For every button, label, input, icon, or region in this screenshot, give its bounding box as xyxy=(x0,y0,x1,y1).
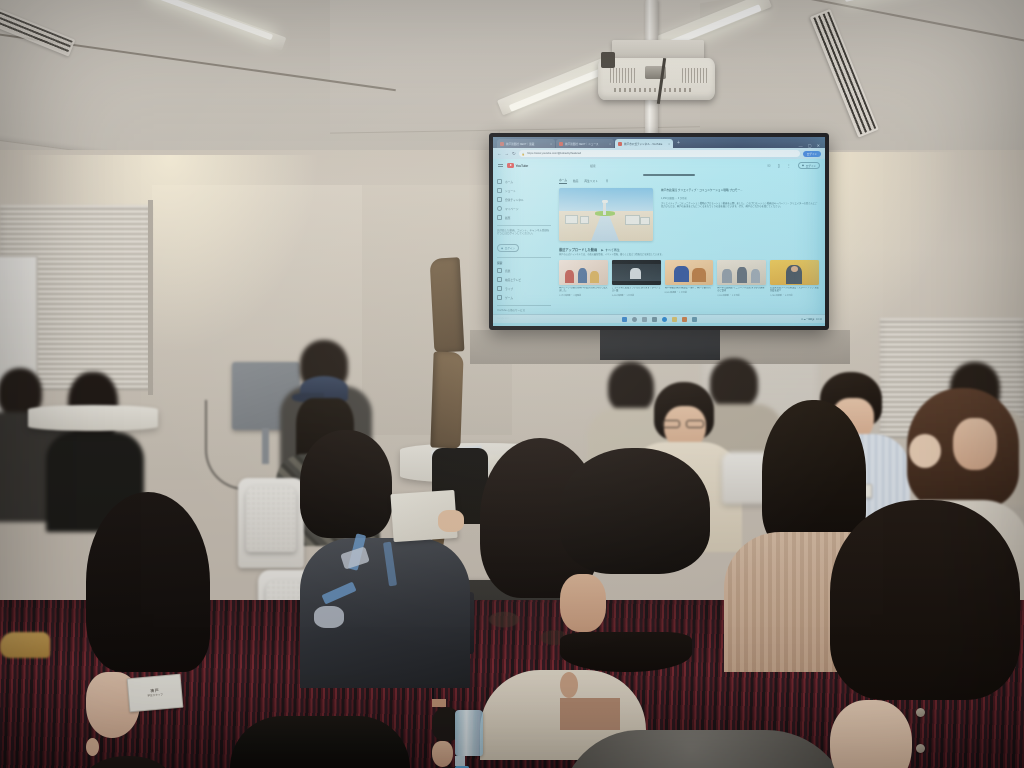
video-card[interactable]: 神戸市立図書館 リニューアル記念 まち歩き講座のご案内 2,110 回視聴 ・ … xyxy=(717,260,766,297)
ear xyxy=(86,738,99,756)
video-title: 神戸市立図書館 リニューアル記念 まち歩き講座のご案内 xyxy=(717,287,766,293)
edge-icon[interactable] xyxy=(662,317,667,322)
forward-icon[interactable]: → xyxy=(505,151,510,156)
tab-close-icon[interactable]: × xyxy=(609,142,611,146)
signin-button[interactable]: ◉ ログイン xyxy=(798,162,820,169)
hair-fringe xyxy=(560,632,692,672)
history-icon xyxy=(497,215,502,220)
head xyxy=(710,358,758,408)
favicon-icon xyxy=(500,142,504,146)
subscriptions-icon xyxy=(497,197,502,202)
play-icon: ▶ xyxy=(601,248,603,252)
back-icon[interactable]: ← xyxy=(497,151,502,156)
system-tray[interactable]: A ☁ ^ ⌨ 🔊 10:42 xyxy=(801,318,822,321)
projector-adjust-knob xyxy=(601,52,615,68)
neck xyxy=(560,698,620,730)
video-meta: 3,420 回視聴 ・ 1 か月前 xyxy=(612,294,661,297)
start-icon[interactable] xyxy=(622,317,627,322)
youtube-page: YouTube 検索 ☉ ▯ ⋮ ◉ ログイン xyxy=(493,159,825,323)
tab-title: 神戸新聞社 NEXT｜連載 xyxy=(506,142,534,146)
ear xyxy=(560,672,578,698)
video-card[interactable]: 神戸ビーフ の魅力を神戸市長が世界に向けて伝えました。 1.2万 回視聴 ・ 2… xyxy=(559,260,608,297)
tab-close-icon[interactable]: × xyxy=(668,142,670,146)
sidebar-divider xyxy=(497,225,551,226)
tab-title: 神戸新聞社 NEXT｜ニュース xyxy=(565,142,598,146)
hair xyxy=(830,500,1020,700)
head xyxy=(608,362,654,412)
attendee-bottom-edge xyxy=(230,716,410,768)
profile-button[interactable]: ログイン xyxy=(803,151,821,157)
video-meta: 1.2万 回視聴 ・ 2 週間前 xyxy=(559,294,608,297)
explorer-icon[interactable] xyxy=(652,317,657,322)
tab-title: 神戸市公式チャンネル - YouTube xyxy=(624,142,662,146)
face xyxy=(432,741,453,767)
hamburger-menu-icon[interactable] xyxy=(498,164,503,168)
folder-icon[interactable] xyxy=(672,317,677,322)
sidebar-item-home[interactable]: ホーム xyxy=(497,177,551,186)
window-frame-left xyxy=(148,200,153,395)
search-icon[interactable]: ⚲ xyxy=(606,179,608,183)
thumbnail-tower xyxy=(603,202,606,215)
hand xyxy=(438,510,464,532)
video-meta: 8,905 回視聴 ・ 1 か月前 xyxy=(665,291,714,294)
photo-scene: 神戸新聞社 NEXT｜連載 × 神戸新聞社 NEXT｜ニュース × 神戸市公式チ… xyxy=(0,0,1024,768)
sidebar-item-label: マイページ xyxy=(505,207,518,211)
sidebar-item-shorts[interactable]: ショート xyxy=(497,186,551,195)
round-table-left xyxy=(28,405,158,431)
featured-video-thumbnail[interactable] xyxy=(559,188,653,241)
youtube-logo[interactable]: YouTube xyxy=(507,163,528,168)
account-icon: ◉ xyxy=(802,164,804,167)
channel-tabs: ホーム 動画 再生リスト ⚲ xyxy=(559,177,819,185)
featured-video-description: クリエイティブ・コミュニケーション戦略のプロモーション動画を公開しました。 この… xyxy=(661,203,819,210)
browser-tab[interactable]: 神戸新聞社 NEXT｜ニュース × xyxy=(556,139,614,148)
video-thumbnail[interactable] xyxy=(559,260,608,285)
home-icon xyxy=(497,179,502,184)
video-title: 起業家応援チームの座談会｜スタートアップ 支援制度を紹介 xyxy=(770,287,819,293)
microphone-icon[interactable]: ▯ xyxy=(778,163,780,168)
tab-home[interactable]: ホーム xyxy=(559,178,567,184)
browser-address-bar: ← → ↻ 🔒 https://www.youtube.com/@kobecit… xyxy=(493,148,825,159)
play-all-button[interactable]: ▶ すべて再生 xyxy=(601,248,619,252)
video-title: こうべ子育て応援プラザ はじまります！ダイジェスト版 xyxy=(612,287,661,293)
play-all-label: すべて再生 xyxy=(605,248,620,252)
mail-icon[interactable] xyxy=(682,317,687,322)
glasses-icon xyxy=(662,420,680,428)
sidebar-item-label: ショート xyxy=(505,189,516,193)
projector-vent-right xyxy=(682,68,708,83)
sidebar-signin-note: 高評価した動画、コメント、チャンネル登録を行うにはログインしてください。 xyxy=(497,229,551,236)
hair xyxy=(560,448,710,574)
face xyxy=(560,574,606,632)
bottle-body xyxy=(455,710,483,756)
thumbnail-building xyxy=(640,217,650,225)
video-card[interactable]: こうべ子育て応援プラザ はじまります！ダイジェスト版 3,420 回視聴 ・ 1… xyxy=(612,260,661,297)
sidebar-item-label: 履歴 xyxy=(505,216,510,220)
tab-close-icon[interactable]: × xyxy=(550,142,552,146)
video-thumbnail[interactable] xyxy=(665,260,714,285)
video-thumbnail[interactable] xyxy=(717,260,766,285)
featured-video-meta: 1,250 回視聴 ・ 3 か月前 xyxy=(661,196,819,200)
store-icon[interactable] xyxy=(692,317,697,322)
youtube-header: YouTube 検索 ☉ ▯ ⋮ ◉ ログイン xyxy=(493,159,825,172)
video-row-header: 最近アップロードした動画 ▶ すべて再生 xyxy=(559,247,819,252)
boot xyxy=(0,632,50,658)
display-mount xyxy=(600,330,720,360)
thumbnail-building xyxy=(565,215,578,225)
gray-knit-sweater xyxy=(560,730,852,768)
hair xyxy=(86,492,210,672)
face xyxy=(830,700,912,768)
sidebar-item-you[interactable]: マイページ xyxy=(497,204,551,213)
featured-video-details: 神戸市政策局 クリエイティブ・コミュニケーション戦略 プロモー... 1,250… xyxy=(661,188,819,241)
glasses-icon xyxy=(686,420,704,428)
sidebar-signin-label: ログイン xyxy=(505,246,515,250)
sidebar-item-history[interactable]: 履歴 xyxy=(497,213,551,222)
neck xyxy=(432,699,446,707)
video-row-title: 最近アップロードした動画 xyxy=(559,247,597,252)
projector-label-strip xyxy=(614,88,692,92)
cardigan-button xyxy=(916,708,925,717)
new-tab-button[interactable]: + xyxy=(674,139,683,148)
video-title: 神戸ビーフ の魅力を神戸市長が世界に向けて伝えました。 xyxy=(559,287,608,293)
featured-video: 神戸市政策局 クリエイティブ・コミュニケーション戦略 プロモー... 1,250… xyxy=(559,188,819,241)
attendee-front-right xyxy=(830,500,1024,768)
video-card[interactable]: 神戸市職員 採用 座談会 ─ 働く、神戸で暮らす。 8,905 回視聴 ・ 1 … xyxy=(665,260,714,297)
url-text: https://www.youtube.com/@kobecity/featur… xyxy=(527,152,581,155)
video-meta: 2,110 回視聴 ・ 2 か月前 xyxy=(717,294,766,297)
video-card[interactable]: 起業家応援チームの座談会｜スタートアップ 支援制度を紹介 5,780 回視聴 ・… xyxy=(770,260,819,297)
reload-icon[interactable]: ↻ xyxy=(512,151,516,157)
monitor-stand xyxy=(262,428,269,464)
sidebar-item-label: ホーム xyxy=(505,180,513,184)
widgets-icon[interactable] xyxy=(642,317,647,322)
browser-tab-active[interactable]: 神戸市公式チャンネル - YouTube × xyxy=(615,139,673,148)
video-thumbnail[interactable] xyxy=(770,260,819,285)
featured-video-title[interactable]: 神戸市政策局 クリエイティブ・コミュニケーション戦略 プロモー... xyxy=(661,189,819,193)
hand xyxy=(909,434,941,468)
kebab-menu-icon[interactable]: ⋮ xyxy=(787,163,791,168)
search-input[interactable]: 検索 xyxy=(590,164,596,168)
youtube-header-icons: ☉ ▯ ⋮ ◉ ログイン xyxy=(767,162,820,169)
favicon-icon xyxy=(559,142,563,146)
bottle-neck xyxy=(455,756,465,766)
projector-vent-left xyxy=(610,68,636,83)
attendee-front-center xyxy=(560,448,820,768)
water-bottle[interactable]: 水 xyxy=(455,710,483,768)
cardigan-button xyxy=(916,744,925,753)
video-row-subtitle: 神戸市公式チャンネルでは、市政の最新情報、イベント情報、暮らしに役立つ情報などを… xyxy=(559,254,819,257)
search-icon[interactable] xyxy=(632,317,637,322)
video-thumbnail[interactable] xyxy=(612,260,661,285)
account-icon: ◉ xyxy=(501,247,503,250)
url-input[interactable]: 🔒 https://www.youtube.com/@kobecity/feat… xyxy=(519,150,800,157)
sidebar-signin-button[interactable]: ◉ ログイン xyxy=(497,244,519,252)
display-screen[interactable]: 神戸新聞社 NEXT｜連載 × 神戸新聞社 NEXT｜ニュース × 神戸市公式チ… xyxy=(493,137,825,326)
sidebar-item-label: 登録チャンネル xyxy=(505,198,524,202)
badge-line2: 学生スタッフ xyxy=(147,693,163,697)
sidebar-item-subscriptions[interactable]: 登録チャンネル xyxy=(497,195,551,204)
browser-tab[interactable]: 神戸新聞社 NEXT｜連載 × xyxy=(497,139,555,148)
favicon-icon xyxy=(618,142,622,146)
hair-bangs xyxy=(86,756,170,768)
video-grid: 神戸ビーフ の魅力を神戸市長が世界に向けて伝えました。 1.2万 回視聴 ・ 2… xyxy=(559,260,819,297)
face xyxy=(953,418,997,470)
browser-tab-bar: 神戸新聞社 NEXT｜連載 × 神戸新聞社 NEXT｜ニュース × 神戸市公式チ… xyxy=(493,137,825,148)
presenter xyxy=(432,258,537,458)
you-icon xyxy=(497,206,502,211)
shorts-icon xyxy=(497,188,502,193)
thumbnail-building xyxy=(625,215,640,226)
tab-playlists[interactable]: 再生リスト xyxy=(584,179,597,183)
name-badge: 神戸 学生スタッフ xyxy=(127,674,184,713)
signin-label: ログイン xyxy=(806,164,816,168)
tab-videos[interactable]: 動画 xyxy=(573,179,578,183)
video-meta: 5,780 回視聴 ・ 3 か月前 xyxy=(770,294,819,297)
youtube-main-content: ホーム 動画 再生リスト ⚲ xyxy=(555,175,825,323)
wall-display: 神戸新聞社 NEXT｜連載 × 神戸新聞社 NEXT｜ニュース × 神戸市公式チ… xyxy=(489,133,829,330)
youtube-wordmark: YouTube xyxy=(516,164,529,168)
bell-icon[interactable]: ☉ xyxy=(767,163,771,168)
windows-taskbar: A ☁ ^ ⌨ 🔊 10:42 xyxy=(493,314,825,323)
blazer-left xyxy=(430,257,465,352)
play-triangle-icon xyxy=(507,163,514,168)
video-title: 神戸市職員 採用 座談会 ─ 働く、神戸で暮らす。 xyxy=(665,287,714,290)
thumbnail-building xyxy=(580,216,589,224)
lock-icon: 🔒 xyxy=(522,152,525,156)
youtube-body: ホーム ショート 登録チャンネル マイページ xyxy=(493,175,825,323)
